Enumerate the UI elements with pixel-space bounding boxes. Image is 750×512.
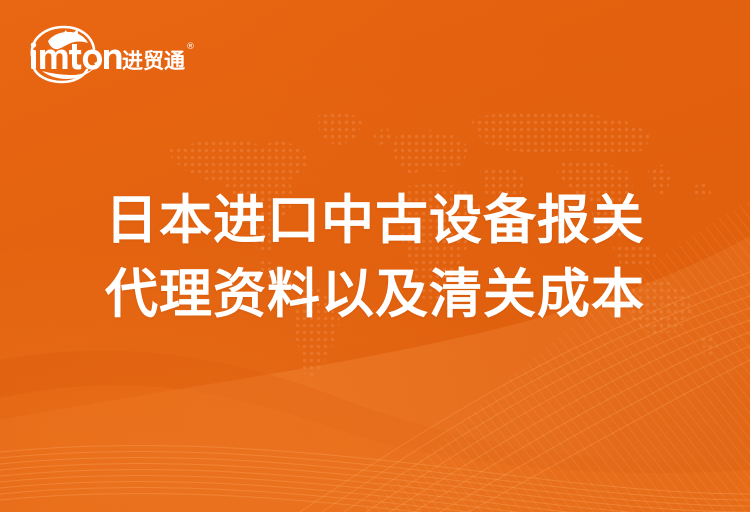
trademark-icon: ®	[186, 42, 195, 52]
headline-line-1: 日本进口中古设备报关	[0, 184, 750, 258]
wordmark-imton	[31, 42, 122, 69]
headline-line-2: 代理资料以及清关成本	[0, 258, 750, 332]
promo-banner: 进贸通 ® 日本进口中古设备报关 代理资料以及清关成本	[0, 0, 750, 512]
wordmark-cn: 进贸通	[122, 49, 185, 73]
headline-block: 日本进口中古设备报关 代理资料以及清关成本	[0, 184, 750, 332]
brand-logo[interactable]: 进贸通 ®	[18, 22, 198, 84]
